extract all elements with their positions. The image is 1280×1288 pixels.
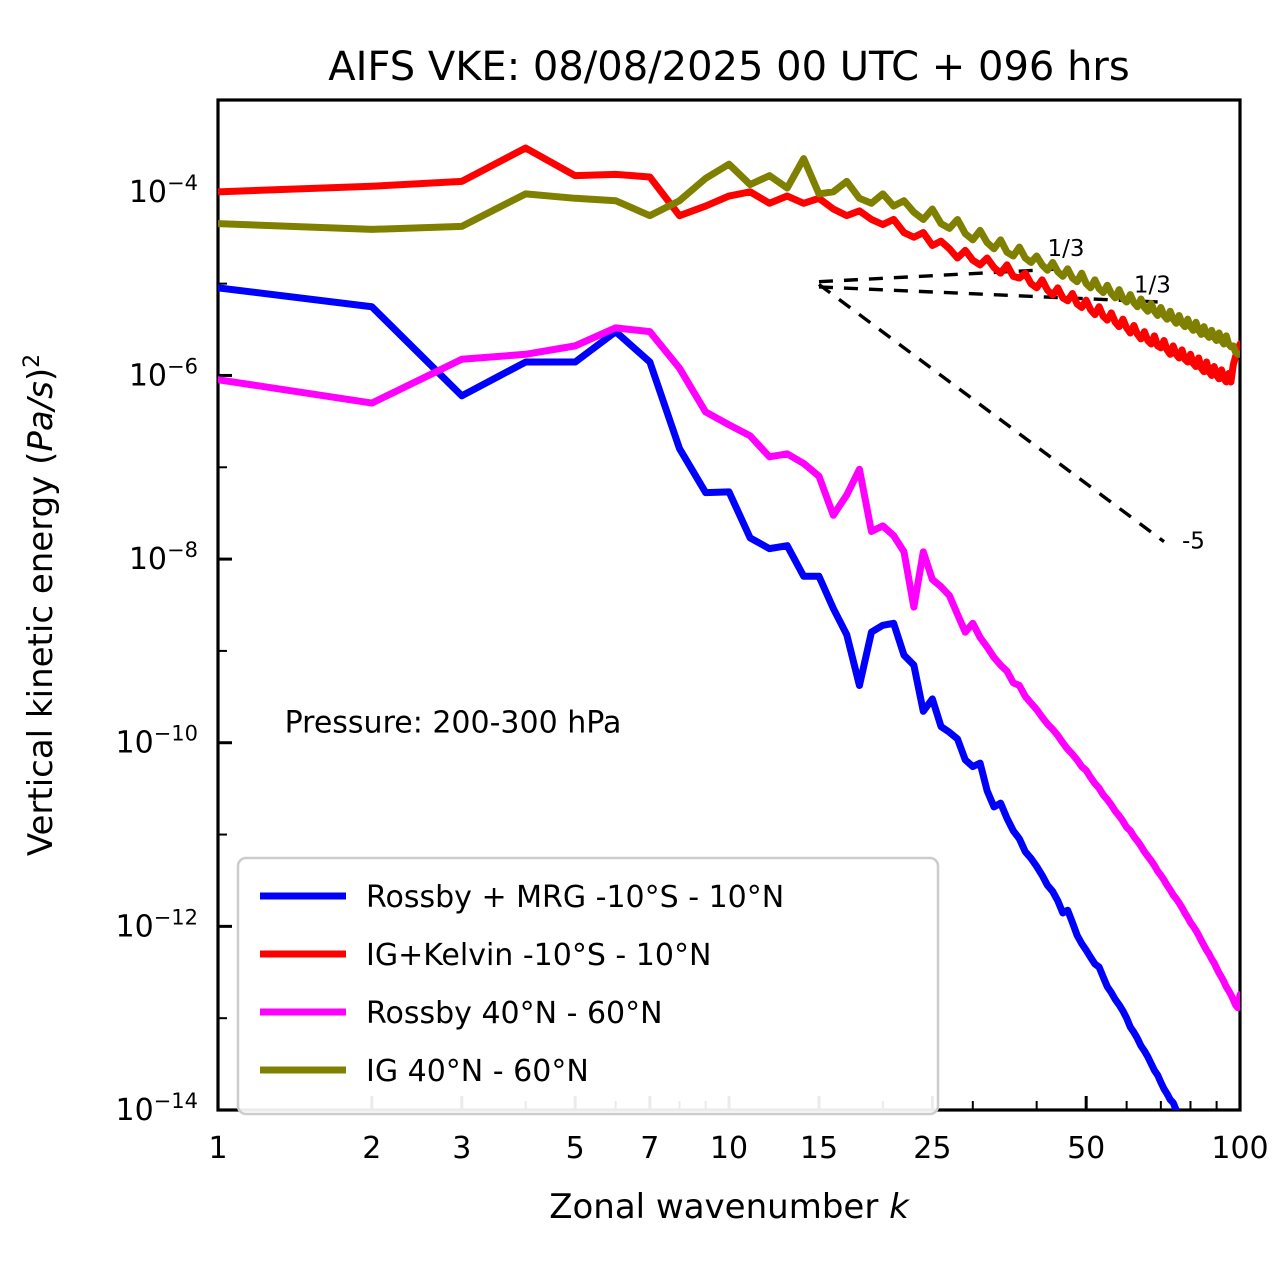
y-axis-label-text: Vertical kinetic energy (Pa/s)2 — [20, 354, 61, 856]
x-tick-label: 5 — [566, 1131, 585, 1166]
pressure-annotation: Pressure: 200-300 hPa — [285, 705, 622, 740]
y-tick-label: 10−8 — [129, 538, 198, 577]
slope-label-minus5: -5 — [1182, 529, 1205, 555]
chart-title-text: AIFS VKE: 08/08/2025 00 UTC + 096 hrs — [328, 44, 1129, 90]
y-tick-label: 10−10 — [115, 722, 198, 761]
figure-canvas: AIFS VKE: 08/08/2025 00 UTC + 096 hrs123… — [0, 0, 1280, 1288]
x-tick-label: 15 — [800, 1131, 838, 1166]
x-tick-label: 2 — [362, 1131, 381, 1166]
x-tick-label: 50 — [1067, 1131, 1105, 1166]
x-tick-label: 7 — [640, 1131, 659, 1166]
y-tick-label: 10−6 — [129, 354, 198, 393]
slope-label-lower: 1/3 — [1134, 273, 1171, 299]
x-tick-label: 25 — [913, 1131, 951, 1166]
annotations: Pressure: 200-300 hPa1/31/3-5 — [285, 236, 1205, 740]
slope-label-upper: 1/3 — [1047, 236, 1084, 262]
x-tick-label: 10 — [710, 1131, 748, 1166]
y-tick-label: 10−14 — [115, 1089, 198, 1128]
chart-legend[interactable]: Rossby + MRG -10°S - 10°NIG+Kelvin -10°S… — [238, 858, 938, 1114]
y-axis-label: Vertical kinetic energy (Pa/s)2 — [20, 354, 61, 856]
x-tick-label: 1 — [208, 1131, 227, 1166]
legend-label-2: Rossby 40°N - 60°N — [366, 996, 663, 1031]
y-tick-label: 10−12 — [115, 905, 198, 944]
series-line-1 — [218, 148, 1240, 382]
chart-title: AIFS VKE: 08/08/2025 00 UTC + 096 hrs — [328, 44, 1129, 90]
x-tick-label: 3 — [452, 1131, 471, 1166]
y-axis-ticks: 10−1410−1210−1010−810−610−4 — [115, 100, 232, 1128]
x-axis-label: Zonal wavenumber k — [549, 1187, 910, 1227]
legend-label-0: Rossby + MRG -10°S - 10°N — [366, 880, 784, 915]
y-tick-label: 10−4 — [129, 171, 198, 210]
vke-spectrum-chart: AIFS VKE: 08/08/2025 00 UTC + 096 hrs123… — [0, 0, 1280, 1288]
legend-label-1: IG+Kelvin -10°S - 10°N — [366, 938, 711, 973]
x-tick-label: 100 — [1211, 1131, 1268, 1166]
legend-label-3: IG 40°N - 60°N — [366, 1054, 589, 1089]
